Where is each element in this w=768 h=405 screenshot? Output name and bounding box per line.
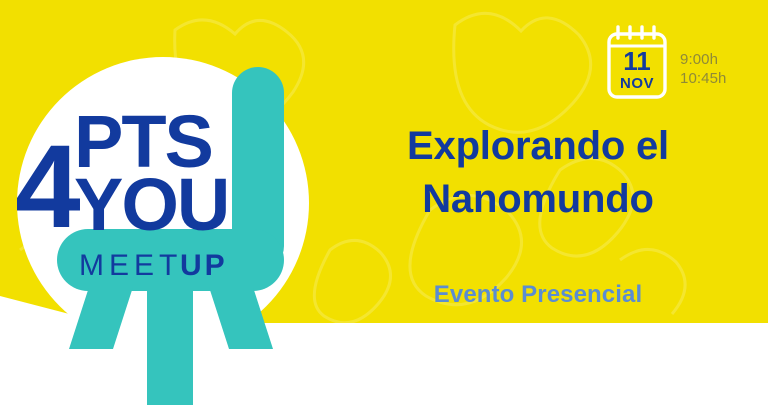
page-title: Explorando el Nanomundo xyxy=(328,120,748,226)
calendar-icon: 11 NOV xyxy=(604,24,670,102)
logo-number-4: 4 xyxy=(17,121,81,253)
title-line-1: Explorando el xyxy=(328,120,748,173)
time-end: 10:45h xyxy=(680,69,726,88)
calendar-day: 11 xyxy=(604,48,670,74)
logo-tagline-meet: MEET xyxy=(79,249,182,282)
title-line-2: Nanomundo xyxy=(328,173,748,226)
logo-word-you: YOU xyxy=(74,163,228,246)
time-start: 9:00h xyxy=(680,50,726,69)
sponsor-logo-strip: CEI BioTIC G R A N A D A CSIC CONSEJO SU… xyxy=(0,331,768,405)
date-time-badge: 11 NOV 9:00h 10:45h xyxy=(604,24,726,102)
logo-tagline-up: UP xyxy=(180,249,228,282)
calendar-month: NOV xyxy=(604,76,670,91)
event-format-label: Evento Presencial xyxy=(328,281,748,309)
event-poster: 4 PTS YOU MEET UP 11 NOV 9:00h xyxy=(0,0,768,405)
